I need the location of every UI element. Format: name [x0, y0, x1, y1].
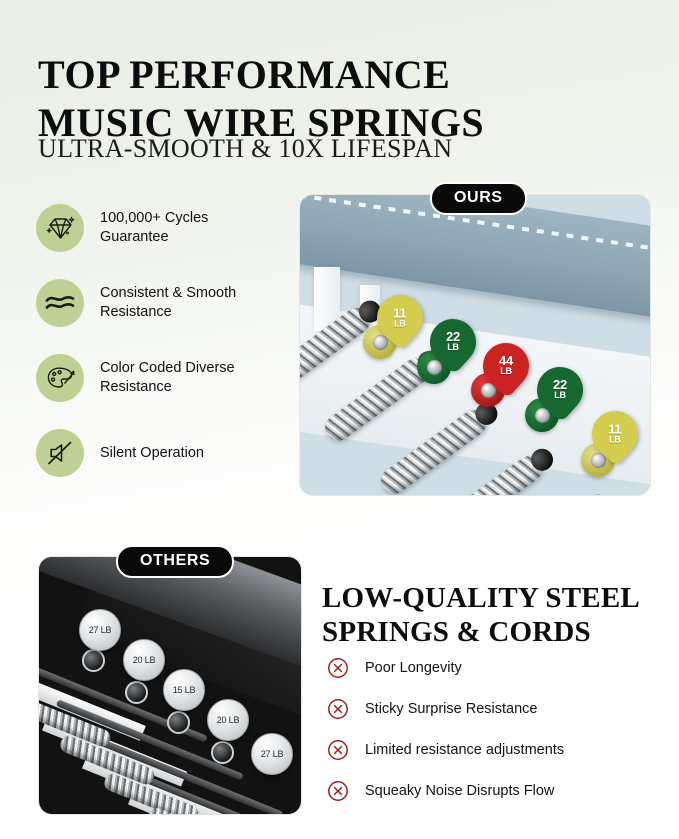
list-item: Silent Operation	[36, 425, 286, 481]
cons-title: LOW-QUALITY STEEL SPRINGS & CORDS	[322, 581, 657, 649]
list-item: Poor Longevity	[326, 655, 666, 681]
spring-hub	[211, 741, 234, 764]
resistance-disc-label: 20 LB	[217, 715, 240, 725]
list-item: Color Coded Diverse Resistance	[36, 350, 286, 406]
spring-hub	[167, 711, 190, 734]
list-item: Squeaky Noise Disrupts Flow	[326, 778, 666, 804]
page-title: TOP PERFORMANCE MUSIC WIRE SPRINGS	[38, 51, 648, 147]
list-item: Limited resistance adjustments	[326, 737, 666, 763]
list-item: 100,000+ Cycles Guarantee	[36, 200, 286, 256]
badge-others: OTHERS	[116, 545, 234, 578]
others-scene: 27 LB 20 LB 15 LB 20 LB 27 LB	[39, 557, 301, 814]
list-item-label: Color Coded Diverse Resistance	[100, 359, 280, 397]
headline-line-1: TOP PERFORMANCE	[38, 52, 450, 97]
spring-hub	[125, 681, 148, 704]
muted-speaker-icon	[36, 429, 84, 477]
list-item-label: Sticky Surprise Resistance	[365, 701, 537, 717]
weight-tag-label: 11LB	[608, 423, 621, 445]
resistance-disc: 15 LB	[163, 669, 205, 711]
cons-title-line-1: LOW-QUALITY STEEL	[322, 582, 640, 614]
list-item-label: Consistent & Smooth Resistance	[100, 284, 280, 322]
cons-title-line-2: SPRINGS & CORDS	[322, 616, 591, 648]
weight-tag-label: 11LB	[393, 307, 406, 329]
product-photo-others: 27 LB 20 LB 15 LB 20 LB 27 LB	[38, 556, 302, 815]
resistance-disc: 27 LB	[79, 609, 121, 651]
drawbacks-list: Poor Longevity Sticky Surprise Resistanc…	[326, 655, 666, 819]
circle-x-icon	[326, 738, 350, 762]
resistance-disc: 20 LB	[123, 639, 165, 681]
circle-x-icon	[326, 779, 350, 803]
page-subtitle: ULTRA-SMOOTH & 10X LIFESPAN	[38, 134, 452, 164]
resistance-disc: 20 LB	[207, 699, 249, 741]
badge-ours: OURS	[430, 182, 527, 215]
spring-hub	[82, 649, 105, 672]
list-item: Sticky Surprise Resistance	[326, 696, 666, 722]
waves-icon	[36, 279, 84, 327]
list-item-label: 100,000+ Cycles Guarantee	[100, 209, 280, 247]
circle-x-icon	[326, 697, 350, 721]
resistance-disc-label: 27 LB	[261, 749, 284, 759]
benefits-list: 100,000+ Cycles Guarantee Consistent & S…	[36, 200, 286, 500]
weight-tag-label: 22LB	[553, 379, 567, 401]
circle-x-icon	[326, 656, 350, 680]
diamond-icon	[36, 204, 84, 252]
ours-scene: 11LB 22LB 44LB 22LB	[300, 195, 650, 495]
resistance-disc-label: 15 LB	[173, 685, 196, 695]
product-photo-ours: 11LB 22LB 44LB 22LB	[299, 194, 651, 496]
list-item: Consistent & Smooth Resistance	[36, 275, 286, 331]
resistance-disc-label: 20 LB	[133, 655, 156, 665]
resistance-disc-label: 27 LB	[89, 625, 112, 635]
resistance-disc: 27 LB	[251, 733, 293, 775]
spring-knob	[583, 490, 614, 496]
list-item-label: Poor Longevity	[365, 660, 462, 676]
weight-tag-label: 44LB	[499, 355, 513, 377]
list-item-label: Silent Operation	[100, 444, 204, 463]
weight-tag-label: 22LB	[446, 331, 460, 353]
list-item-label: Limited resistance adjustments	[365, 742, 564, 758]
list-item-label: Squeaky Noise Disrupts Flow	[365, 783, 554, 799]
paint-palette-icon	[36, 354, 84, 402]
